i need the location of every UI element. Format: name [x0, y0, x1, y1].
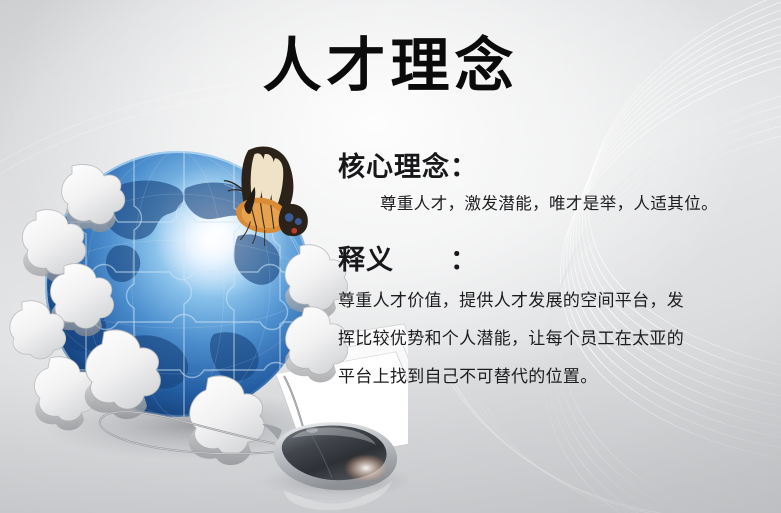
core-philosophy-heading: 核心理念：: [338, 152, 774, 184]
definition-heading: 释义 ：: [338, 245, 774, 277]
page-title: 人才理念: [0, 33, 781, 99]
definition-line-1: 尊重人才价值，提供人才发展的空间平台，发: [338, 283, 774, 321]
core-philosophy-text: 尊重人才，激发潜能，唯才是举，人适其位。: [338, 191, 774, 217]
slide-canvas: 人才理念 核心理念： 尊重人才，激发潜能，唯才是举，人适其位。 释义 ： 尊重人…: [0, 0, 781, 513]
core-philosophy-block: 核心理念： 尊重人才，激发潜能，唯才是举，人适其位。: [338, 152, 774, 217]
definition-text: 尊重人才价值，提供人才发展的空间平台，发 挥比较优势和个人潜能，让每个员工在太亚…: [338, 283, 774, 396]
content-column: 核心理念： 尊重人才，激发潜能，唯才是举，人适其位。 释义 ： 尊重人才价值，提…: [338, 152, 774, 397]
definition-block: 释义 ： 尊重人才价值，提供人才发展的空间平台，发 挥比较优势和个人潜能，让每个…: [338, 245, 774, 397]
definition-line-2: 挥比较优势和个人潜能，让每个员工在太亚的: [338, 321, 774, 359]
definition-line-3: 平台上找到自己不可替代的位置。: [338, 359, 774, 397]
section-spacer: [338, 217, 774, 243]
